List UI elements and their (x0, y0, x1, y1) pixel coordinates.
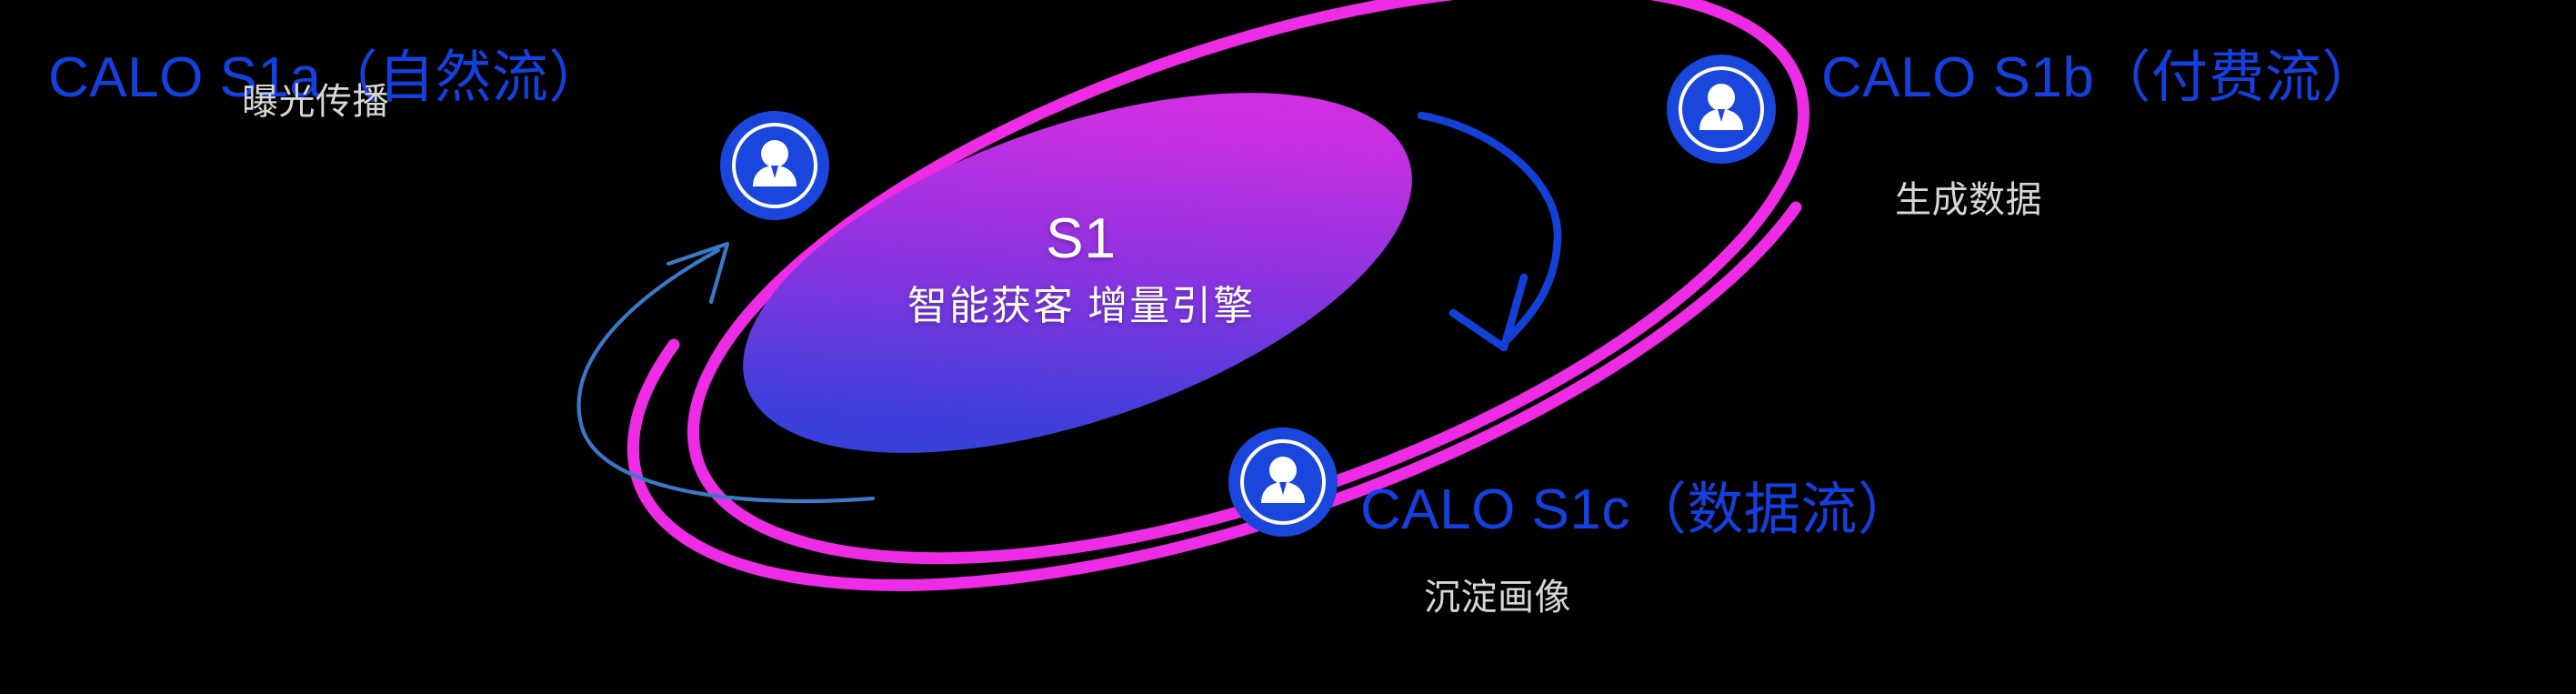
node-subtitle-s1c: 沉淀画像 (1424, 579, 1571, 616)
core-subtitle: 智能获客 增量引擎 (827, 287, 1336, 327)
node-title-s1c: CALO S1c（数据流） (1360, 482, 1914, 538)
core-title: S1 (977, 211, 1186, 267)
node-subtitle-s1a: 曝光传播 (242, 84, 389, 120)
node-avatar-s1c[interactable] (1228, 427, 1338, 537)
node-subtitle-s1b: 生成数据 (1895, 182, 2042, 218)
arrow-right-down (1421, 116, 1558, 347)
diagram-canvas: S1 智能获客 增量引擎 CALO S1a（自然流） 曝光传播 CALO S1b… (0, 0, 2576, 694)
node-title-s1b: CALO S1b（付费流） (1821, 50, 2379, 106)
node-avatar-s1a[interactable] (720, 111, 829, 220)
node-avatar-s1b[interactable] (1667, 55, 1776, 164)
